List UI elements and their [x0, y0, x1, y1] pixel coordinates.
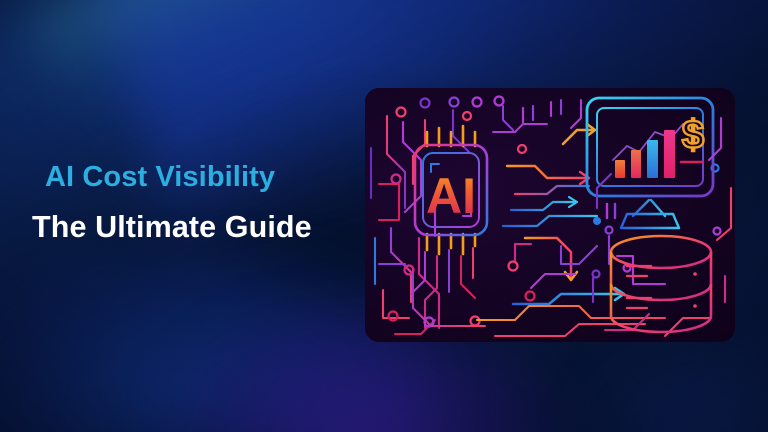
hero-artwork-card: AI	[365, 88, 735, 342]
headline-line-2: The Ultimate Guide	[32, 212, 362, 243]
circuit-traces-bottom	[477, 236, 711, 336]
monitor-bars	[615, 130, 675, 178]
chip-pins-top	[427, 126, 475, 146]
dollar-sign-icon: $	[682, 113, 704, 157]
headline-line-1: AI Cost Visibility	[45, 163, 362, 192]
circuit-illustration: AI	[365, 88, 735, 342]
analytics-monitor: $	[587, 98, 713, 228]
ai-chip: AI	[415, 145, 487, 235]
slide-canvas: AI Cost Visibility The Ultimate Guide	[0, 0, 768, 432]
headline-block: AI Cost Visibility The Ultimate Guide	[32, 163, 362, 243]
ai-chip-label: AI	[426, 168, 476, 224]
chip-pins-bottom	[427, 234, 475, 254]
monitor-base	[621, 214, 679, 228]
